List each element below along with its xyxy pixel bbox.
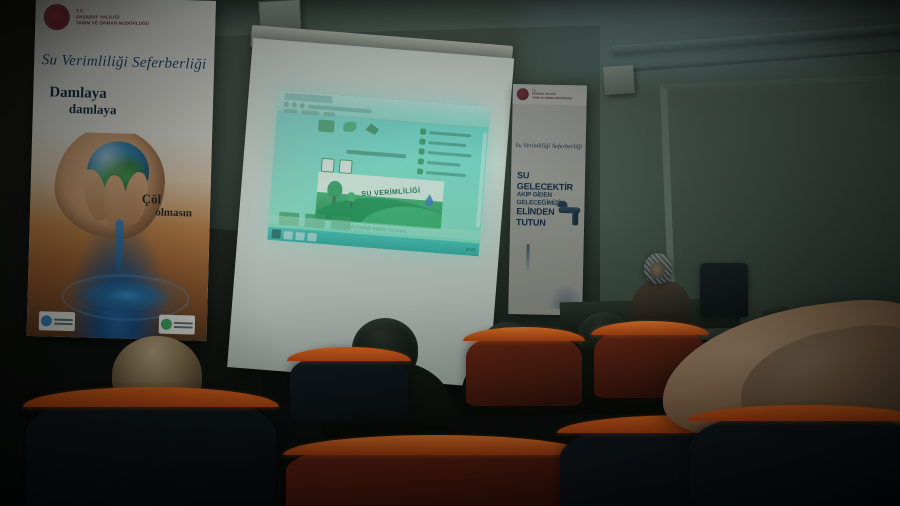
badge-icon (321, 158, 335, 173)
windows-start-icon[interactable] (271, 229, 281, 239)
banner-title: Su Verimliliği Seferberliği (512, 142, 586, 151)
logo-mark (41, 315, 52, 326)
list-item (420, 128, 482, 139)
tree-trunk (332, 196, 336, 204)
bullet-icon (417, 168, 423, 174)
right-banner: T.C. AKSARAY VALİLİĞİ TARIM VE ORMAN MÜD… (508, 84, 587, 315)
leaf-icon (318, 119, 335, 132)
seat[interactable] (26, 392, 276, 506)
projected-computer-screen: SU VERİMLİLİĞİ Su Verimliliği Eğitim Sun… (267, 90, 490, 256)
faucet-water-stream (526, 244, 530, 270)
bullet-icon (420, 128, 426, 134)
seat[interactable] (466, 332, 582, 406)
slogan-line: Çöl (141, 191, 161, 207)
slogan-line: olmasın (155, 207, 192, 220)
slogan-line: Damlaya (49, 84, 107, 102)
water-drip (114, 219, 123, 271)
faucet-icon (556, 203, 583, 234)
list-item (419, 138, 481, 149)
banner-title: Su Verimliliği Seferberliği (34, 52, 214, 74)
banner-photo: Çöl olmasın (27, 131, 213, 341)
slogan-line: damlaya (69, 101, 117, 117)
logo-lines (54, 318, 73, 325)
seat[interactable] (286, 440, 586, 506)
left-banner: T.C. AKSARAY VALİLİĞİ TARIM VE ORMAN MÜD… (27, 0, 216, 341)
back-arrow-icon[interactable] (284, 102, 289, 107)
water-drop-icon (424, 194, 434, 207)
empty-chair (700, 263, 748, 317)
list-item (417, 168, 479, 179)
reload-icon[interactable] (300, 103, 305, 108)
banner-header: T.C. AKSARAY VALİLİĞİ TARIM VE ORMAN MÜD… (36, 0, 216, 39)
tc-seal-icon (44, 4, 70, 30)
ceiling-light-glow (520, 0, 900, 80)
door-frame (660, 74, 900, 333)
presenter-face (650, 262, 665, 279)
ministry-logo-icon (159, 315, 196, 335)
slide-title: SU VERİMLİLİĞİ (361, 187, 421, 198)
seat[interactable] (690, 410, 900, 506)
logo-lines (174, 321, 193, 328)
forward-arrow-icon[interactable] (292, 102, 297, 107)
slide-icon-row (318, 119, 380, 136)
faucet-neck (572, 211, 578, 225)
institution-line: TARIM VE ORMAN MÜDÜRLÜĞÜ (76, 20, 149, 26)
slide-heading-line (346, 150, 406, 159)
banner-slogan-bottom: Çöl olmasın (141, 192, 192, 220)
taskbar-clock: 14:32 (465, 246, 475, 252)
banner-header: T.C. AKSARAY VALİLİĞİ TARIM VE ORMAN MÜD… (513, 84, 587, 106)
banner-slogan-top: Damlaya damlaya (49, 84, 118, 117)
seat[interactable] (290, 352, 408, 422)
conference-room-photo: SU VERİMLİLİĞİ Su Verimliliği Eğitim Sun… (0, 0, 900, 506)
taskbar-app-icon[interactable] (307, 232, 317, 241)
bullet-icon (419, 138, 425, 144)
headline-line: SU GELECEKTİR (517, 170, 579, 193)
wall-speaker-icon (603, 65, 635, 95)
taskbar-app-icon[interactable] (295, 231, 305, 240)
drop-icon (365, 123, 380, 135)
institution-text: T.C. AKSARAY VALİLİĞİ TARIM VE ORMAN MÜD… (76, 8, 149, 26)
seed-icon (343, 121, 357, 132)
badge-icon (339, 159, 353, 174)
water-logo-icon (39, 311, 76, 331)
bullet-icon (418, 158, 424, 164)
list-item (418, 148, 480, 159)
slide-bullet-list (417, 128, 482, 179)
bullet-icon (418, 148, 424, 154)
taskbar-app-icon[interactable] (283, 231, 293, 240)
tc-seal-icon (517, 88, 529, 100)
list-item (418, 158, 480, 169)
institution-line: TARIM VE ORMAN MÜDÜRLÜĞÜ (532, 96, 573, 100)
institution-text: T.C. AKSARAY VALİLİĞİ TARIM VE ORMAN MÜD… (532, 89, 573, 100)
logo-mark (161, 319, 172, 330)
